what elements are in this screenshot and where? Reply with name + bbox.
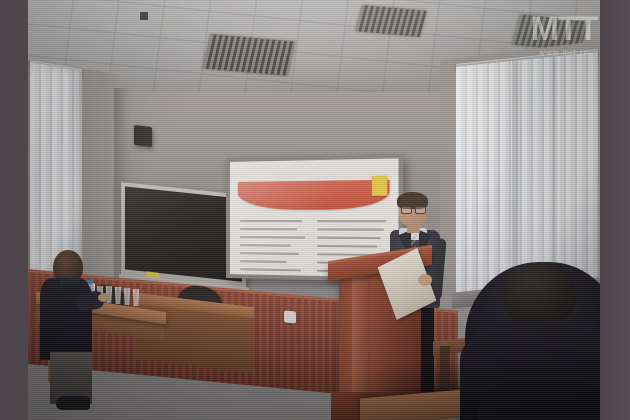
slide-text-line	[239, 260, 287, 263]
presenter-hand	[418, 274, 432, 286]
slide-title-banner	[238, 180, 390, 210]
slide-text-line	[239, 252, 299, 255]
window-blinds-left	[30, 62, 82, 281]
slide-text-line	[239, 268, 300, 271]
slide-text-line	[317, 245, 378, 248]
blind-fold	[552, 56, 557, 297]
slide-text-line	[239, 236, 305, 239]
letterbox-bar-left	[0, 0, 28, 420]
slide-text-line	[239, 228, 296, 230]
attendee-right-head	[502, 263, 576, 325]
slide-text-line	[239, 244, 291, 247]
attendee-left-shoe	[56, 396, 90, 410]
attendee-left-hand	[98, 293, 110, 302]
letterbox-bar-right	[600, 0, 630, 420]
glasses-lens	[415, 206, 426, 214]
slide-text-line	[317, 236, 381, 239]
wall-speaker-icon	[134, 125, 152, 147]
photo-scene: MTT www.mtt.ru	[0, 0, 630, 420]
chalkboard-surface	[125, 186, 242, 281]
blind-sheen	[30, 62, 82, 281]
slide-text-line	[317, 220, 387, 222]
chair-back	[478, 380, 600, 420]
slide-text-line	[239, 220, 302, 222]
glasses-lens	[401, 206, 412, 214]
photo-content	[28, 0, 600, 420]
chalk-piece	[146, 271, 159, 278]
slide-column-left	[239, 218, 308, 271]
slide-text-line	[317, 228, 384, 230]
power-outlet	[284, 310, 296, 323]
slide-accent-badge	[372, 175, 388, 195]
